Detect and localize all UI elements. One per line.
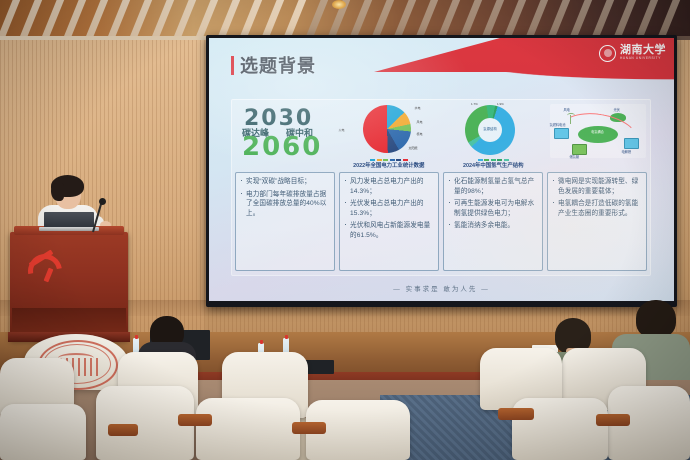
laptop (44, 212, 94, 229)
card-bullet: 光伏发电占总电力产出的15.3%； (343, 199, 435, 218)
power-chart-caption: 2022年全国电力工业统计数据 (337, 161, 442, 169)
podium (10, 232, 128, 340)
card-bullet: 化石能源制氢量占氢气总产量的98%； (447, 177, 539, 196)
ceiling-light (332, 0, 346, 9)
microgrid-diagram: 风电 光伏 氢燃料电池 电解槽 储氢罐 电氢耦合 (550, 104, 646, 158)
pie-label-2: 风电 (417, 120, 423, 124)
card-microgrid-coupling: 微电网是实现能源转型、绿色发展的重要载体； 电氢耦合是打造低碳的氢能产业生态圈的… (547, 172, 647, 271)
ceiling (0, 0, 690, 40)
university-seal-icon (599, 45, 616, 62)
card-hydrogen-production: 化石能源制氢量占氢气总产量的98%； 可再生能源发电可为电解水制氢提供绿色电力；… (443, 172, 543, 271)
pie-label-3: 核电 (417, 132, 423, 136)
hydrogen-chart-caption: 2024年中国氢气生产结构 (441, 161, 546, 169)
slide-content-panel: 2030 碳达峰 碳中和 2060 水电 风电 核电 太阳能 火电 (231, 99, 651, 276)
dual-carbon-logo-cell: 2030 碳达峰 碳中和 2060 (232, 102, 337, 170)
chair-armrest (292, 422, 326, 434)
donut-label-2: 1.9% (497, 102, 504, 106)
bullet-cards: 实现“双碳”战略目标； 电力部门每年碳排放量占据了全国碳排放总量的40%以上。 … (235, 172, 647, 271)
node-label-wind: 风电 (564, 107, 570, 112)
power-statistics-chart-cell: 水电 风电 核电 太阳能 火电 2022年全国电力工业统计数据 (337, 102, 442, 170)
year-2060: 2060 (242, 132, 322, 162)
photo-scene: 湖南大学 HUNAN UNIVERSITY 选题背景 2030 碳达峰 碳中和 (0, 0, 690, 460)
card-bullet: 可再生能源发电可为电解水制氢提供绿色电力； (447, 199, 539, 218)
chair-armrest (596, 414, 630, 426)
chair-armrest (108, 424, 138, 436)
card-dual-carbon-goal: 实现“双碳”战略目标； 电力部门每年碳排放量占据了全国碳排放总量的40%以上。 (235, 172, 335, 271)
card-bullet: 微电网是实现能源转型、绿色发展的重要载体； (551, 177, 643, 196)
donut-center-label: 氢源结构 (465, 126, 515, 131)
hydrogen-structure-chart-cell: 氢源结构 1.7% 1.9% 2024年中国氢气生产结构 (441, 102, 546, 170)
university-logo: 湖南大学 HUNAN UNIVERSITY (599, 42, 666, 64)
node-label-solar: 光伏 (614, 107, 620, 112)
university-name-en: HUNAN UNIVERSITY (620, 57, 666, 60)
microphone-icon (99, 198, 106, 205)
slide-title-group: 选题背景 (231, 56, 316, 75)
card-bullet: 电氢耦合是打造低碳的氢能产业生态圈的重要形式。 (551, 199, 643, 218)
card-bullet: 风力发电占总电力产出的14.3%； (343, 177, 435, 196)
slide-footer-motto: — 实事求是 敢为人先 — (209, 283, 674, 293)
audience-head (636, 300, 676, 338)
title-accent-bar (231, 56, 234, 75)
card-bullet: 实现“双碳”战略目标； (239, 177, 331, 187)
donut-label-1: 1.7% (471, 102, 478, 106)
slide-header-curve (344, 64, 674, 84)
dual-carbon-logo: 2030 碳达峰 碳中和 2060 (240, 106, 332, 166)
university-name: 湖南大学 (620, 45, 666, 56)
slide-title: 选题背景 (240, 57, 316, 75)
microgrid-diagram-cell: 风电 光伏 氢燃料电池 电解槽 储氢罐 电氢耦合 (546, 102, 651, 170)
presenter-hair-side (51, 183, 64, 201)
chair (0, 404, 86, 460)
card-bullet: 氢能消纳多余电能。 (447, 221, 539, 231)
card-bullet: 光伏和风电占新能源发电量的61.5%。 (343, 221, 435, 240)
chair-armrest (178, 414, 212, 426)
pie-label-4: 太阳能 (409, 146, 418, 150)
chair-armrest (498, 408, 534, 420)
power-pie-chart (363, 105, 411, 153)
chair (196, 398, 300, 460)
node-label-tank: 储氢罐 (570, 154, 580, 159)
projection-screen: 湖南大学 HUNAN UNIVERSITY 选题背景 2030 碳达峰 碳中和 (209, 38, 674, 301)
party-emblem-icon (24, 250, 62, 284)
pie-label-1: 水电 (415, 106, 421, 110)
projection-screen-frame: 湖南大学 HUNAN UNIVERSITY 选题背景 2030 碳达峰 碳中和 (206, 35, 677, 307)
card-power-generation-share: 风力发电占总电力产出的14.3%； 光伏发电占总电力产出的15.3%； 光伏和风… (339, 172, 439, 271)
card-bullet: 电力部门每年碳排放量占据了全国碳排放总量的40%以上。 (239, 190, 331, 219)
pie-label-5: 火电 (339, 128, 345, 132)
slide-visuals-row: 2030 碳达峰 碳中和 2060 水电 风电 核电 太阳能 火电 (232, 102, 650, 170)
